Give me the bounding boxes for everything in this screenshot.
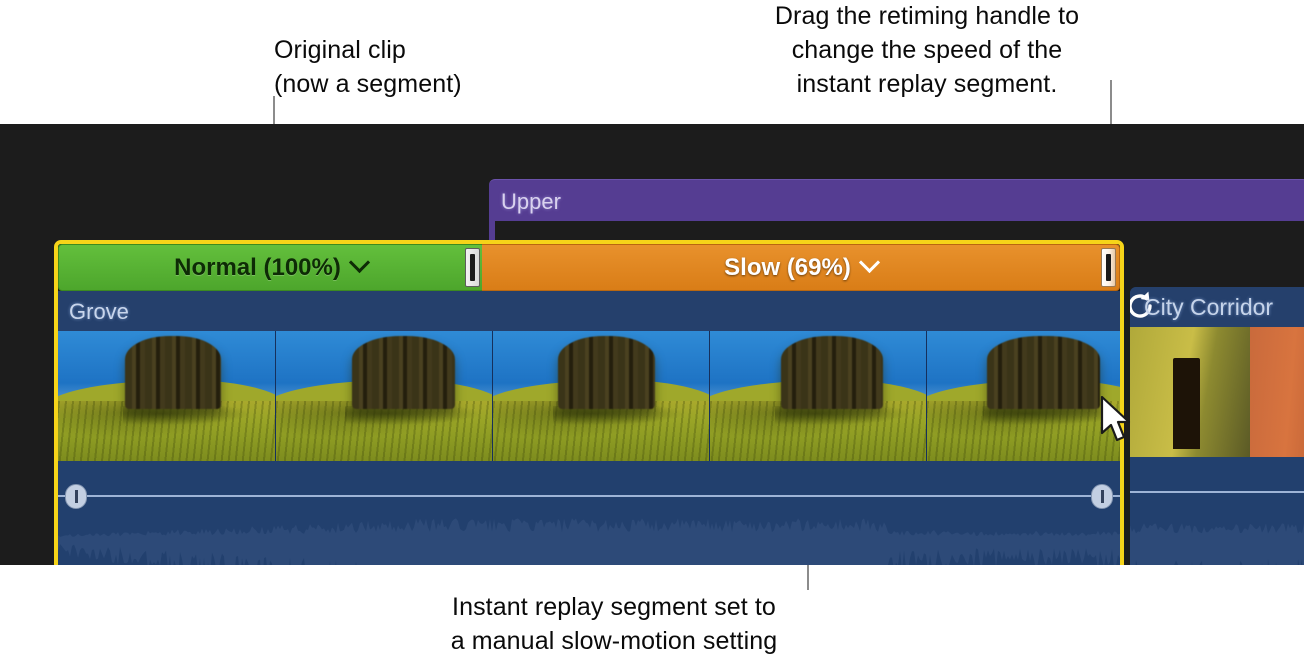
clip-city-corridor-label: City Corridor <box>1144 294 1273 321</box>
audio-waveform <box>1130 517 1304 565</box>
edit-point-marker-top <box>498 240 505 244</box>
connected-clip-label: Upper <box>501 189 561 214</box>
retiming-segment-normal-label: Normal (100%) <box>174 254 341 282</box>
retiming-handle-middle[interactable] <box>465 248 480 287</box>
volume-handle-left[interactable] <box>65 484 87 509</box>
annotation-instant-replay-segment: Instant replay segment set to a manual s… <box>418 590 810 658</box>
clip-grove-label: Grove <box>69 299 129 324</box>
retiming-segment-slow-label: Slow (69%) <box>724 254 851 282</box>
annotation-drag-retiming-handle: Drag the retiming handle to change the s… <box>743 0 1111 101</box>
retiming-segment-normal[interactable]: Normal (100%) <box>58 244 482 291</box>
retiming-editor-bar[interactable]: Normal (100%) Slow (69%) <box>58 244 1120 291</box>
filmstrip-frame <box>709 331 926 461</box>
clip-city-corridor-filmstrip <box>1130 327 1304 457</box>
clip-grove-filmstrip <box>58 331 1120 461</box>
filmstrip-frame <box>275 331 492 461</box>
filmstrip-frame <box>1130 327 1250 457</box>
timeline-canvas[interactable]: Upper City Corridor <box>0 124 1304 565</box>
chevron-down-icon[interactable] <box>859 252 880 273</box>
filmstrip-frame <box>58 331 275 461</box>
retiming-handle-end[interactable] <box>1101 248 1116 287</box>
clip-city-corridor-namebar: City Corridor <box>1130 287 1304 327</box>
filmstrip-frame <box>926 331 1120 461</box>
filmstrip-frame <box>492 331 709 461</box>
connected-clip-upper[interactable]: Upper <box>489 179 1304 221</box>
clip-grove-namebar: Grove <box>58 291 1120 331</box>
chevron-down-icon[interactable] <box>349 252 370 273</box>
annotation-original-clip: Original clip (now a segment) <box>274 33 462 101</box>
clip-grove-selected[interactable]: Normal (100%) Slow (69%) Grove <box>54 240 1124 565</box>
volume-line[interactable] <box>58 495 1120 497</box>
clip-grove-audio[interactable] <box>58 461 1120 565</box>
volume-line[interactable] <box>1130 491 1304 493</box>
volume-handle-right[interactable] <box>1091 484 1113 509</box>
audio-waveform <box>58 517 1120 565</box>
clip-city-corridor[interactable]: City Corridor <box>1130 287 1304 565</box>
filmstrip-frame <box>1250 327 1304 457</box>
retiming-segment-slow[interactable]: Slow (69%) <box>482 244 1120 291</box>
clip-city-corridor-audio[interactable] <box>1130 457 1304 565</box>
